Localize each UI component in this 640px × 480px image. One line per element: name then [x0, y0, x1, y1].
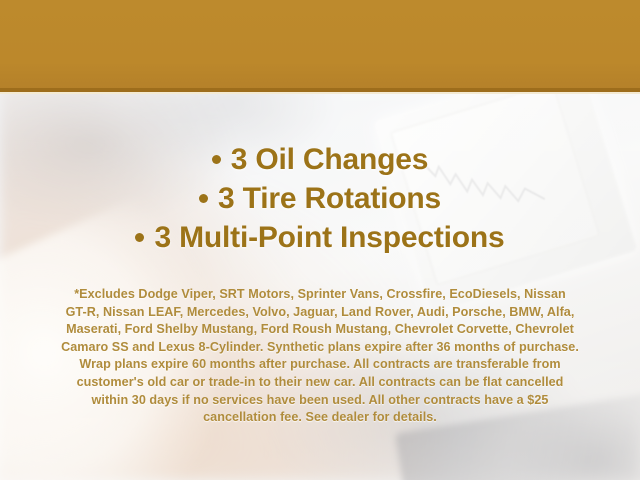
disclaimer-line: Maserati, Ford Shelby Mustang, Ford Rous… [22, 321, 618, 339]
disclaimer-line: cancellation fee. See dealer for details… [22, 409, 618, 427]
disclaimer-line: within 30 days if no services have been … [22, 392, 618, 410]
disclaimer-line: *Excludes Dodge Viper, SRT Motors, Sprin… [22, 286, 618, 304]
extracare-package-poster: ExtraCare Package* 3 Oil Changes 3 Tire … [0, 0, 640, 480]
benefit-item-label: 3 Oil Changes [231, 143, 428, 176]
disclaimer-line: GT-R, Nissan LEAF, Mercedes, Volvo, Jagu… [22, 304, 618, 322]
benefit-item: 3 Tire Rotations [0, 179, 640, 218]
benefit-item-label: 3 Multi-Point Inspections [154, 221, 504, 254]
benefit-item: 3 Multi-Point Inspections [0, 218, 640, 257]
benefit-item-label: 3 Tire Rotations [218, 182, 441, 215]
bullet-dot-icon [199, 194, 208, 203]
disclaimer-line: Camaro SS and Lexus 8-Cylinder. Syntheti… [22, 339, 618, 357]
disclaimer-line: Wrap plans expire 60 months after purcha… [22, 356, 618, 374]
bullet-dot-icon [212, 155, 221, 164]
disclaimer-line: customer's old car or trade-in to their … [22, 374, 618, 392]
header-bar [0, 0, 640, 88]
benefits-list: 3 Oil Changes 3 Tire Rotations 3 Multi-P… [0, 140, 640, 257]
disclaimer-text: *Excludes Dodge Viper, SRT Motors, Sprin… [22, 286, 618, 427]
benefit-item: 3 Oil Changes [0, 140, 640, 179]
bullet-dot-icon [135, 233, 144, 242]
header-divider-light [0, 92, 640, 94]
